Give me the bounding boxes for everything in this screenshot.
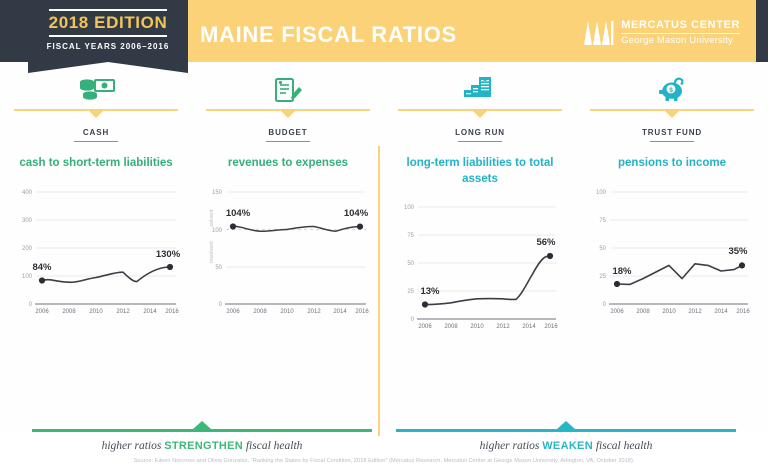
panel-rule: [0, 106, 192, 118]
chart-end-label: 56%: [536, 237, 556, 248]
svg-text:100: 100: [212, 228, 223, 234]
svg-text:2014: 2014: [714, 309, 728, 315]
svg-text:2012: 2012: [688, 309, 702, 315]
footer-weaken: higher ratios WEAKEN fiscal health: [396, 424, 736, 452]
svg-text:2006: 2006: [418, 324, 432, 330]
logo-subtitle: George Mason University: [621, 34, 740, 46]
chart-long-run: 100 75 50 25 0 2006 2008 2010 2012 2014 …: [384, 193, 576, 343]
footer-right-post: fiscal health: [593, 440, 652, 452]
svg-text:2016: 2016: [736, 309, 750, 315]
ratio-panels: CASH cash to short-term liabilities 400 …: [0, 62, 768, 362]
svg-text:2016: 2016: [355, 309, 369, 315]
panel-rule: [576, 106, 768, 118]
footer-text-right: higher ratios WEAKEN fiscal health: [396, 433, 736, 452]
panel-subtitle: revenues to expenses: [192, 142, 384, 172]
svg-text:$: $: [669, 87, 673, 94]
svg-text:2012: 2012: [307, 309, 321, 315]
footer-left-pre: higher ratios: [102, 440, 165, 452]
panel-category-label: BUDGET: [192, 118, 384, 137]
svg-text:50: 50: [215, 265, 222, 271]
svg-text:2010: 2010: [470, 324, 484, 330]
chart-trust-fund: 100 75 50 25 0 2006 2008 2010 2012 2014 …: [576, 178, 768, 328]
panel-trust-fund: $ TRUST FUND pensions to income: [576, 62, 768, 362]
svg-text:0: 0: [411, 317, 415, 323]
svg-text:0: 0: [29, 302, 33, 308]
svg-text:400: 400: [22, 190, 33, 196]
footer-right-keyword: WEAKEN: [542, 440, 593, 452]
footer-text-left: higher ratios STRENGTHEN fiscal health: [32, 433, 372, 452]
chart-end-label: 35%: [728, 246, 748, 257]
svg-text:2012: 2012: [496, 324, 510, 330]
svg-text:2014: 2014: [522, 324, 536, 330]
svg-text:2016: 2016: [544, 324, 558, 330]
svg-text:2008: 2008: [444, 324, 458, 330]
chart-start-label: 104%: [226, 208, 251, 219]
budget-document-icon: [192, 62, 384, 106]
panel-cash: CASH cash to short-term liabilities 400 …: [0, 62, 192, 362]
svg-text:200: 200: [22, 246, 33, 252]
header-dark-right-block: [756, 0, 768, 62]
chart-start-label: 18%: [612, 266, 632, 277]
footer-left-keyword: STRENGTHEN: [164, 440, 243, 452]
svg-text:0: 0: [603, 302, 607, 308]
footer-strengthen: higher ratios STRENGTHEN fiscal health: [32, 424, 372, 452]
mercatus-logo-mark-icon: [584, 21, 614, 45]
svg-text:100: 100: [404, 205, 415, 211]
page-header: 2018 EDITION FISCAL YEARS 2006–2016 MAIN…: [0, 0, 768, 62]
panel-long-run: LONG RUN long-term liabilities to total …: [384, 62, 576, 362]
svg-text:300: 300: [22, 218, 33, 224]
panel-budget: BUDGET revenues to expenses 150 100 50 0: [192, 62, 384, 362]
svg-text:150: 150: [212, 190, 223, 196]
panel-category-label: TRUST FUND: [576, 118, 768, 137]
chart-start-label: 84%: [32, 262, 52, 273]
edition-badge: 2018 EDITION FISCAL YEARS 2006–2016: [28, 0, 188, 62]
svg-text:2014: 2014: [143, 309, 157, 315]
footer-right-pre: higher ratios: [480, 440, 543, 452]
panel-rule: [192, 106, 384, 118]
chart-cash: 400 300 200 100 0 2006 2008 2010 2012 20…: [0, 178, 192, 328]
svg-text:75: 75: [407, 233, 414, 239]
svg-text:2010: 2010: [280, 309, 294, 315]
svg-text:2008: 2008: [253, 309, 267, 315]
axis-note-insolvent: insolvent: [209, 240, 215, 262]
chart-start-label: 13%: [420, 286, 440, 297]
source-citation: Source: Eileen Norcross and Olivia Gonza…: [0, 458, 768, 464]
svg-text:2008: 2008: [636, 309, 650, 315]
chart-end-label: 104%: [344, 208, 369, 219]
svg-text:50: 50: [599, 246, 606, 252]
chart-budget: 150 100 50 0 solvent insolvent 2006 2008…: [192, 178, 384, 328]
svg-text:100: 100: [22, 274, 33, 280]
svg-text:2006: 2006: [610, 309, 624, 315]
panel-subtitle: long-term liabilities to total assets: [384, 142, 576, 187]
panel-subtitle: pensions to income: [576, 142, 768, 172]
chart-end-label: 130%: [156, 249, 181, 260]
axis-note-solvent: solvent: [209, 208, 215, 226]
page-title: MAINE FISCAL RATIOS: [200, 22, 457, 48]
panel-category-label: LONG RUN: [384, 118, 576, 137]
logo-title: MERCATUS CENTER: [621, 20, 740, 34]
panel-rule: [384, 106, 576, 118]
svg-text:100: 100: [596, 190, 607, 196]
svg-text:2010: 2010: [89, 309, 103, 315]
mercatus-logo: MERCATUS CENTER George Mason University: [584, 20, 740, 46]
svg-text:75: 75: [599, 218, 606, 224]
long-run-bills-icon: [384, 62, 576, 106]
svg-text:2006: 2006: [35, 309, 49, 315]
svg-text:2010: 2010: [662, 309, 676, 315]
svg-text:2016: 2016: [165, 309, 179, 315]
piggy-bank-icon: $: [576, 62, 768, 106]
badge-title: 2018 EDITION: [28, 11, 188, 35]
svg-text:25: 25: [599, 274, 606, 280]
svg-text:2012: 2012: [116, 309, 130, 315]
svg-text:2008: 2008: [62, 309, 76, 315]
svg-text:2006: 2006: [226, 309, 240, 315]
svg-text:2014: 2014: [333, 309, 347, 315]
footer-left-post: fiscal health: [243, 440, 302, 452]
svg-text:25: 25: [407, 289, 414, 295]
panel-subtitle: cash to short-term liabilities: [0, 142, 192, 172]
svg-text:50: 50: [407, 261, 414, 267]
badge-subtitle: FISCAL YEARS 2006–2016: [28, 37, 188, 51]
content-sheet: CASH cash to short-term liabilities 400 …: [0, 62, 768, 432]
panel-category-label: CASH: [0, 118, 192, 137]
svg-text:0: 0: [219, 302, 223, 308]
